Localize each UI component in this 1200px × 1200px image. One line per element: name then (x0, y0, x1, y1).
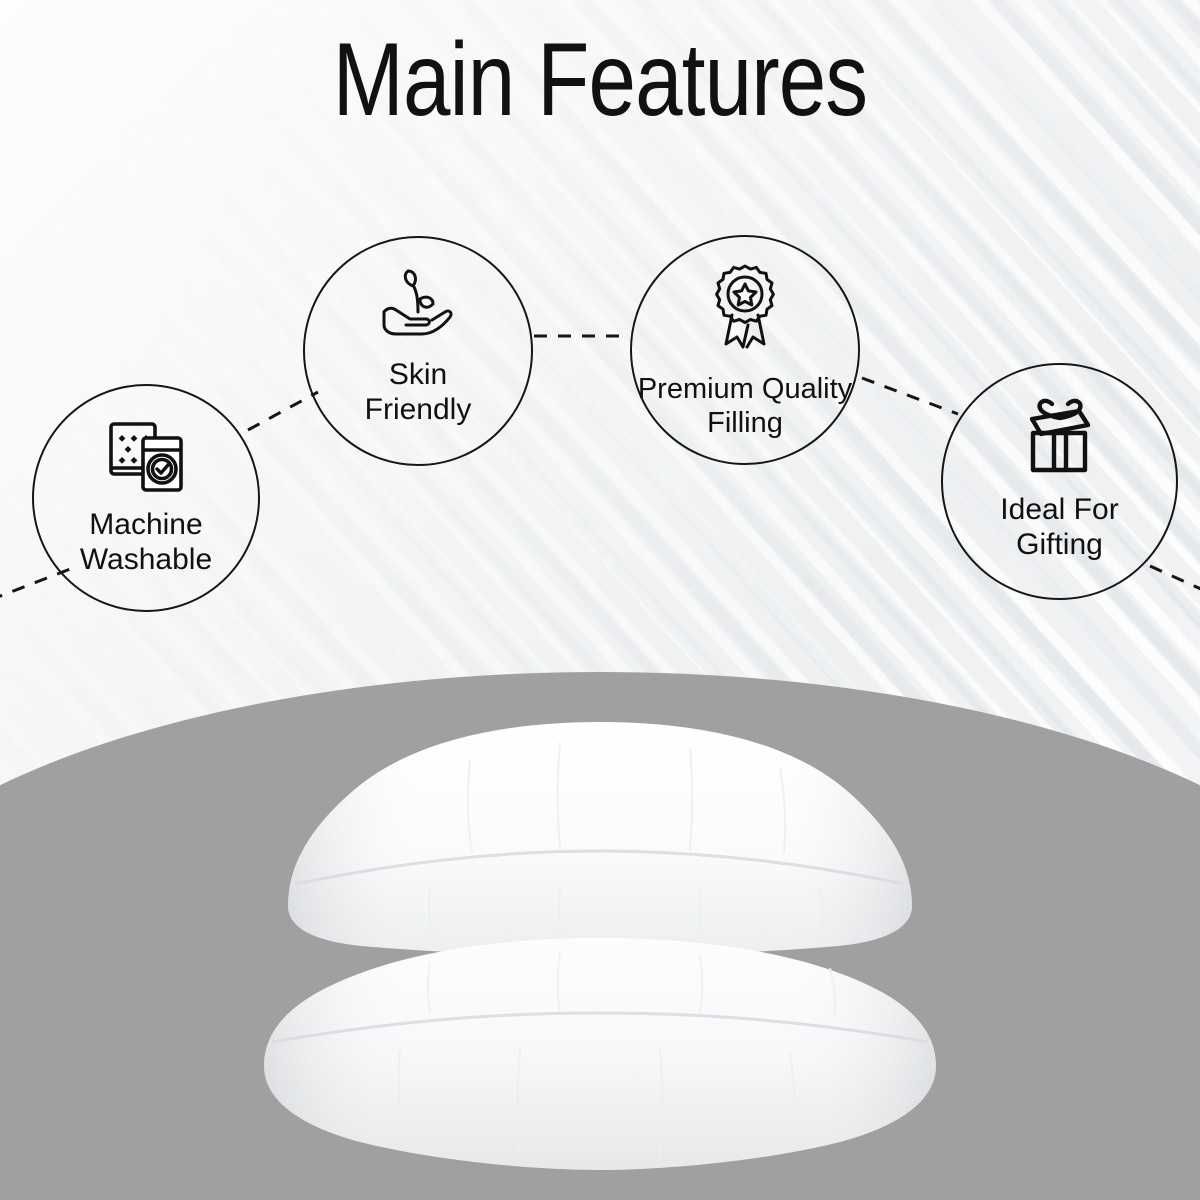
gift-box-icon (1021, 395, 1099, 484)
feature-label: Premium QualityFilling (638, 372, 852, 440)
pillow-lower (264, 938, 936, 1170)
award-ribbon-icon (707, 263, 783, 366)
feature-circle-ideal-for-gifting[interactable]: Ideal ForGifting (941, 363, 1178, 600)
feature-label: Ideal ForGifting (1000, 492, 1118, 563)
feature-circle-machine-washable[interactable]: MachineWashable (32, 384, 260, 612)
feature-label: SkinFriendly (365, 357, 472, 428)
washing-machine-icon (107, 420, 185, 499)
hand-plant-icon (377, 268, 459, 349)
infographic-canvas: Main Features (0, 0, 1200, 1200)
feature-circle-skin-friendly[interactable]: SkinFriendly (303, 236, 533, 466)
feature-label: MachineWashable (80, 507, 212, 578)
pillow-upper (288, 722, 912, 956)
feature-circle-premium-quality-filling[interactable]: Premium QualityFilling (630, 235, 860, 465)
